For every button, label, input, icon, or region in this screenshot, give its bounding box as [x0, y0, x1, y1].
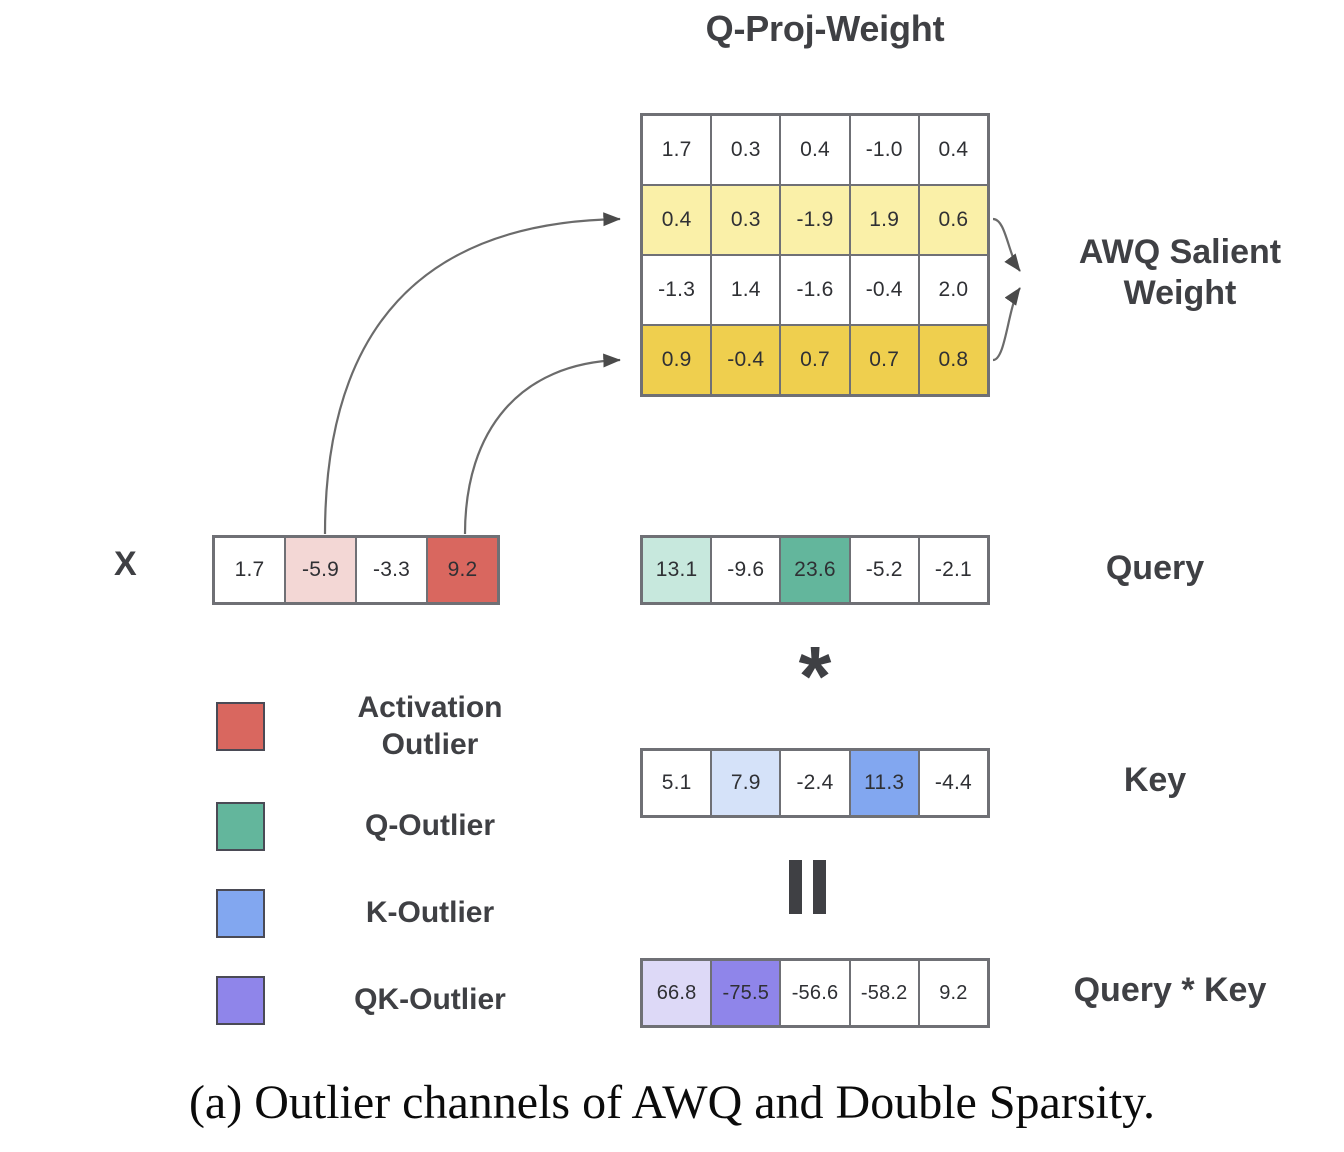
legend-color-swatch: [216, 702, 265, 751]
weight-cell: 0.4: [781, 116, 848, 184]
weight-cell: 1.9: [851, 186, 918, 254]
legend-color-swatch: [216, 889, 265, 938]
legend-item-label: Q-Outlier: [315, 808, 545, 845]
weight-cell: -0.4: [712, 326, 779, 394]
key-cell: 5.1: [643, 751, 710, 815]
q-proj-weight-matrix: 1.70.30.4-1.00.40.40.3-1.91.90.6-1.31.4-…: [640, 113, 990, 397]
x-vector-cell: 1.7: [215, 538, 284, 602]
query-key-cell: 9.2: [920, 961, 987, 1025]
query-label: Query: [1030, 548, 1280, 589]
figure-caption: (a) Outlier channels of AWQ and Double S…: [0, 1075, 1344, 1130]
weight-cell: 2.0: [920, 256, 987, 324]
weight-cell: -1.0: [851, 116, 918, 184]
weight-cell: 1.4: [712, 256, 779, 324]
query-key-vector: 66.8-75.5-56.6-58.29.2: [640, 958, 990, 1028]
arrow-activation-to-salient-row4: [465, 360, 620, 534]
x-vector-cell: -5.9: [286, 538, 355, 602]
key-cell: 7.9: [712, 751, 779, 815]
query-key-cell: -75.5: [712, 961, 779, 1025]
legend-item-label: QK-Outlier: [315, 982, 545, 1019]
matrix-title: Q-Proj-Weight: [625, 8, 1025, 50]
key-cell: -2.4: [781, 751, 848, 815]
weight-cell: 0.7: [851, 326, 918, 394]
weight-cell: -1.6: [781, 256, 848, 324]
x-vector-label: X: [114, 545, 137, 584]
key-vector: 5.17.9-2.411.3-4.4: [640, 748, 990, 818]
weight-cell: -0.4: [851, 256, 918, 324]
legend-color-swatch: [216, 802, 265, 851]
figure-canvas: Q-Proj-Weight 1.70.30.4-1.00.40.40.3-1.9…: [0, 0, 1344, 1152]
weight-cell: 0.6: [920, 186, 987, 254]
query-cell: 23.6: [781, 538, 848, 602]
legend-item: K-Outlier: [216, 889, 545, 938]
legend-item-label: K-Outlier: [315, 895, 545, 932]
query-key-cell: -56.6: [781, 961, 848, 1025]
key-cell: -4.4: [920, 751, 987, 815]
multiply-operator: *: [760, 634, 870, 718]
weight-cell: 0.4: [643, 186, 710, 254]
query-key-label: Query * Key: [1020, 970, 1320, 1011]
query-cell: -5.2: [851, 538, 918, 602]
equals-operator: [789, 860, 826, 914]
weight-cell: 0.4: [920, 116, 987, 184]
query-vector: 13.1-9.623.6-5.2-2.1: [640, 535, 990, 605]
brace-salient-row4: [993, 288, 1020, 360]
weight-cell: -1.3: [643, 256, 710, 324]
legend-item: QK-Outlier: [216, 976, 545, 1025]
x-vector-cell: 9.2: [428, 538, 497, 602]
legend-item: Activation Outlier: [216, 690, 545, 763]
key-label: Key: [1030, 760, 1280, 801]
query-key-cell: -58.2: [851, 961, 918, 1025]
brace-salient-row2: [993, 219, 1020, 271]
legend-item-label: Activation Outlier: [315, 690, 545, 763]
legend-color-swatch: [216, 976, 265, 1025]
weight-cell: 0.7: [781, 326, 848, 394]
key-cell: 11.3: [851, 751, 918, 815]
legend-item: Q-Outlier: [216, 802, 545, 851]
equals-bar-right: [813, 860, 826, 914]
weight-cell: 0.3: [712, 186, 779, 254]
weight-cell: 1.7: [643, 116, 710, 184]
equals-bar-left: [789, 860, 802, 914]
query-cell: -2.1: [920, 538, 987, 602]
arrow-activation-to-salient-row2: [325, 219, 620, 534]
weight-cell: 0.9: [643, 326, 710, 394]
weight-cell: 0.8: [920, 326, 987, 394]
query-cell: -9.6: [712, 538, 779, 602]
x-activation-vector: 1.7-5.9-3.39.2: [212, 535, 500, 605]
awq-salient-weight-label: AWQ Salient Weight: [1030, 232, 1330, 314]
weight-cell: 0.3: [712, 116, 779, 184]
weight-cell: -1.9: [781, 186, 848, 254]
query-key-cell: 66.8: [643, 961, 710, 1025]
x-vector-cell: -3.3: [357, 538, 426, 602]
legend: Activation OutlierQ-OutlierK-OutlierQK-O…: [216, 690, 536, 1020]
query-cell: 13.1: [643, 538, 710, 602]
